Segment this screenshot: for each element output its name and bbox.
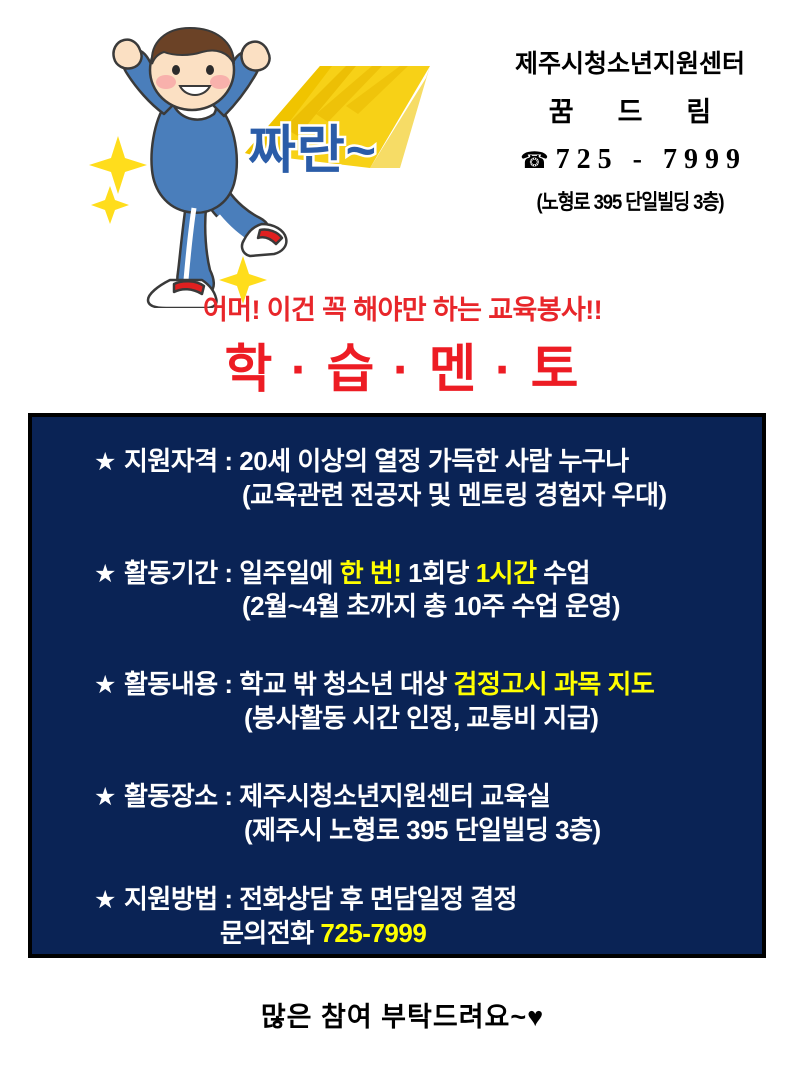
info-row-line-1: ★활동내용 : 학교 밖 청소년 대상 검정고시 과목 지도: [32, 668, 762, 702]
plain-text: 학교 밖 청소년 대상: [233, 669, 454, 699]
star-bullet-icon: ★: [94, 446, 124, 479]
organization-name: 제주시청소년지원센터: [480, 52, 780, 77]
info-row-label: 활동기간 :: [124, 558, 233, 588]
star-bullet-icon: ★: [94, 781, 124, 814]
plain-text: (교육관련 전공자 및 멘토링 경험자 우대): [242, 480, 667, 510]
star-bullet-icon: ★: [94, 884, 124, 917]
headline-title: 학 · 습 · 멘 · 토: [0, 327, 805, 402]
plain-text: 전화상담 후 면담일정 결정: [233, 884, 518, 914]
info-row-line-1: ★지원방법 : 전화상담 후 면담일정 결정: [32, 883, 762, 917]
info-row-line-2: (2월~4월 초까지 총 10주 수업 운영): [32, 590, 762, 624]
info-row-line-1-parts: 제주시청소년지원센터 교육실: [233, 781, 551, 811]
banner-text: 짜란~: [248, 122, 377, 180]
plain-text: 20세 이상의 열정 가득한 사람 누구나: [233, 446, 629, 476]
plain-text: (제주시 노형로 395 단일빌딩 3층): [244, 815, 601, 845]
info-row-label: 지원방법 :: [124, 884, 233, 914]
info-row-line-2: (봉사활동 시간 인정, 교통비 지급): [32, 702, 762, 736]
svg-text:짜란~: 짜란~: [248, 122, 377, 180]
info-row-line-1-parts: 20세 이상의 열정 가득한 사람 누구나: [233, 446, 629, 476]
plain-text: 일주일에: [233, 558, 340, 588]
info-box: ★지원자격 : 20세 이상의 열정 가득한 사람 누구나 (교육관련 전공자 …: [28, 413, 766, 958]
info-row-line-1: ★활동기간 : 일주일에 한 번! 1회당 1시간 수업: [32, 557, 762, 591]
star-bullet-icon: ★: [94, 558, 124, 591]
highlighted-text: 1시간: [476, 558, 537, 588]
plain-text: (2월~4월 초까지 총 10주 수업 운영): [242, 591, 620, 621]
info-row-line-1: ★지원자격 : 20세 이상의 열정 가득한 사람 누구나: [32, 445, 762, 479]
headline-subtitle: 어머! 이건 꼭 해야만 하는 교육봉사!!: [0, 288, 805, 327]
info-row-line-1-parts: 학교 밖 청소년 대상 검정고시 과목 지도: [233, 669, 655, 699]
info-row-label: 활동내용 :: [124, 669, 233, 699]
organization-phone: ☎725 - 7999: [480, 146, 780, 174]
info-row-line-2: 문의전화 725-7999: [32, 917, 762, 951]
illustration-jumping-boy: 짜란~: [70, 18, 450, 308]
plain-text: 문의전화: [220, 918, 320, 948]
info-row-line-2-parts: (교육관련 전공자 및 멘토링 경험자 우대): [242, 480, 667, 510]
info-row-label: 활동장소 :: [124, 781, 233, 811]
info-row-line-2: (교육관련 전공자 및 멘토링 경험자 우대): [32, 479, 762, 513]
info-row: ★활동기간 : 일주일에 한 번! 1회당 1시간 수업 (2월~4월 초까지 …: [32, 557, 762, 625]
plain-text: 수업: [537, 558, 591, 588]
footer-note: 많은 참여 부탁드려요~♥: [0, 995, 805, 1034]
organization-phone-number: 725 - 7999: [556, 144, 747, 175]
plain-text: 1회당: [401, 558, 475, 588]
telephone-icon: ☎: [520, 148, 556, 174]
organization-address: (노형로 395 단일빌딩 3층): [498, 192, 762, 213]
info-row-line-2-parts: 문의전화 725-7999: [220, 918, 426, 948]
highlighted-text: 한 번!: [340, 558, 402, 588]
info-row: ★활동내용 : 학교 밖 청소년 대상 검정고시 과목 지도 (봉사활동 시간 …: [32, 668, 762, 736]
info-row: ★지원방법 : 전화상담 후 면담일정 결정 문의전화 725-7999: [32, 883, 762, 951]
organization-info-block: 제주시청소년지원센터 꿈드림 ☎725 - 7999 (노형로 395 단일빌딩…: [480, 52, 780, 213]
info-row-line-1-parts: 전화상담 후 면담일정 결정: [233, 884, 518, 914]
boy-head: [150, 28, 234, 110]
info-row-label: 지원자격 :: [124, 446, 233, 476]
info-row-line-2: (제주시 노형로 395 단일빌딩 3층): [32, 814, 762, 848]
info-row-line-2-parts: (봉사활동 시간 인정, 교통비 지급): [244, 703, 598, 733]
organization-brand: 꿈드림: [480, 99, 780, 126]
star-bullet-icon: ★: [94, 669, 124, 702]
info-row: ★지원자격 : 20세 이상의 열정 가득한 사람 누구나 (교육관련 전공자 …: [32, 445, 762, 513]
plain-text: 제주시청소년지원센터 교육실: [233, 781, 551, 811]
info-row: ★활동장소 : 제주시청소년지원센터 교육실 (제주시 노형로 395 단일빌딩…: [32, 780, 762, 848]
plain-text: (봉사활동 시간 인정, 교통비 지급): [244, 703, 598, 733]
highlighted-text: 725-7999: [320, 918, 426, 948]
info-row-line-1-parts: 일주일에 한 번! 1회당 1시간 수업: [233, 558, 591, 588]
info-row-line-2-parts: (제주시 노형로 395 단일빌딩 3층): [244, 815, 601, 845]
info-row-line-1: ★활동장소 : 제주시청소년지원센터 교육실: [32, 780, 762, 814]
highlighted-text: 검정고시 과목 지도: [454, 669, 655, 699]
info-row-line-2-parts: (2월~4월 초까지 총 10주 수업 운영): [242, 591, 620, 621]
